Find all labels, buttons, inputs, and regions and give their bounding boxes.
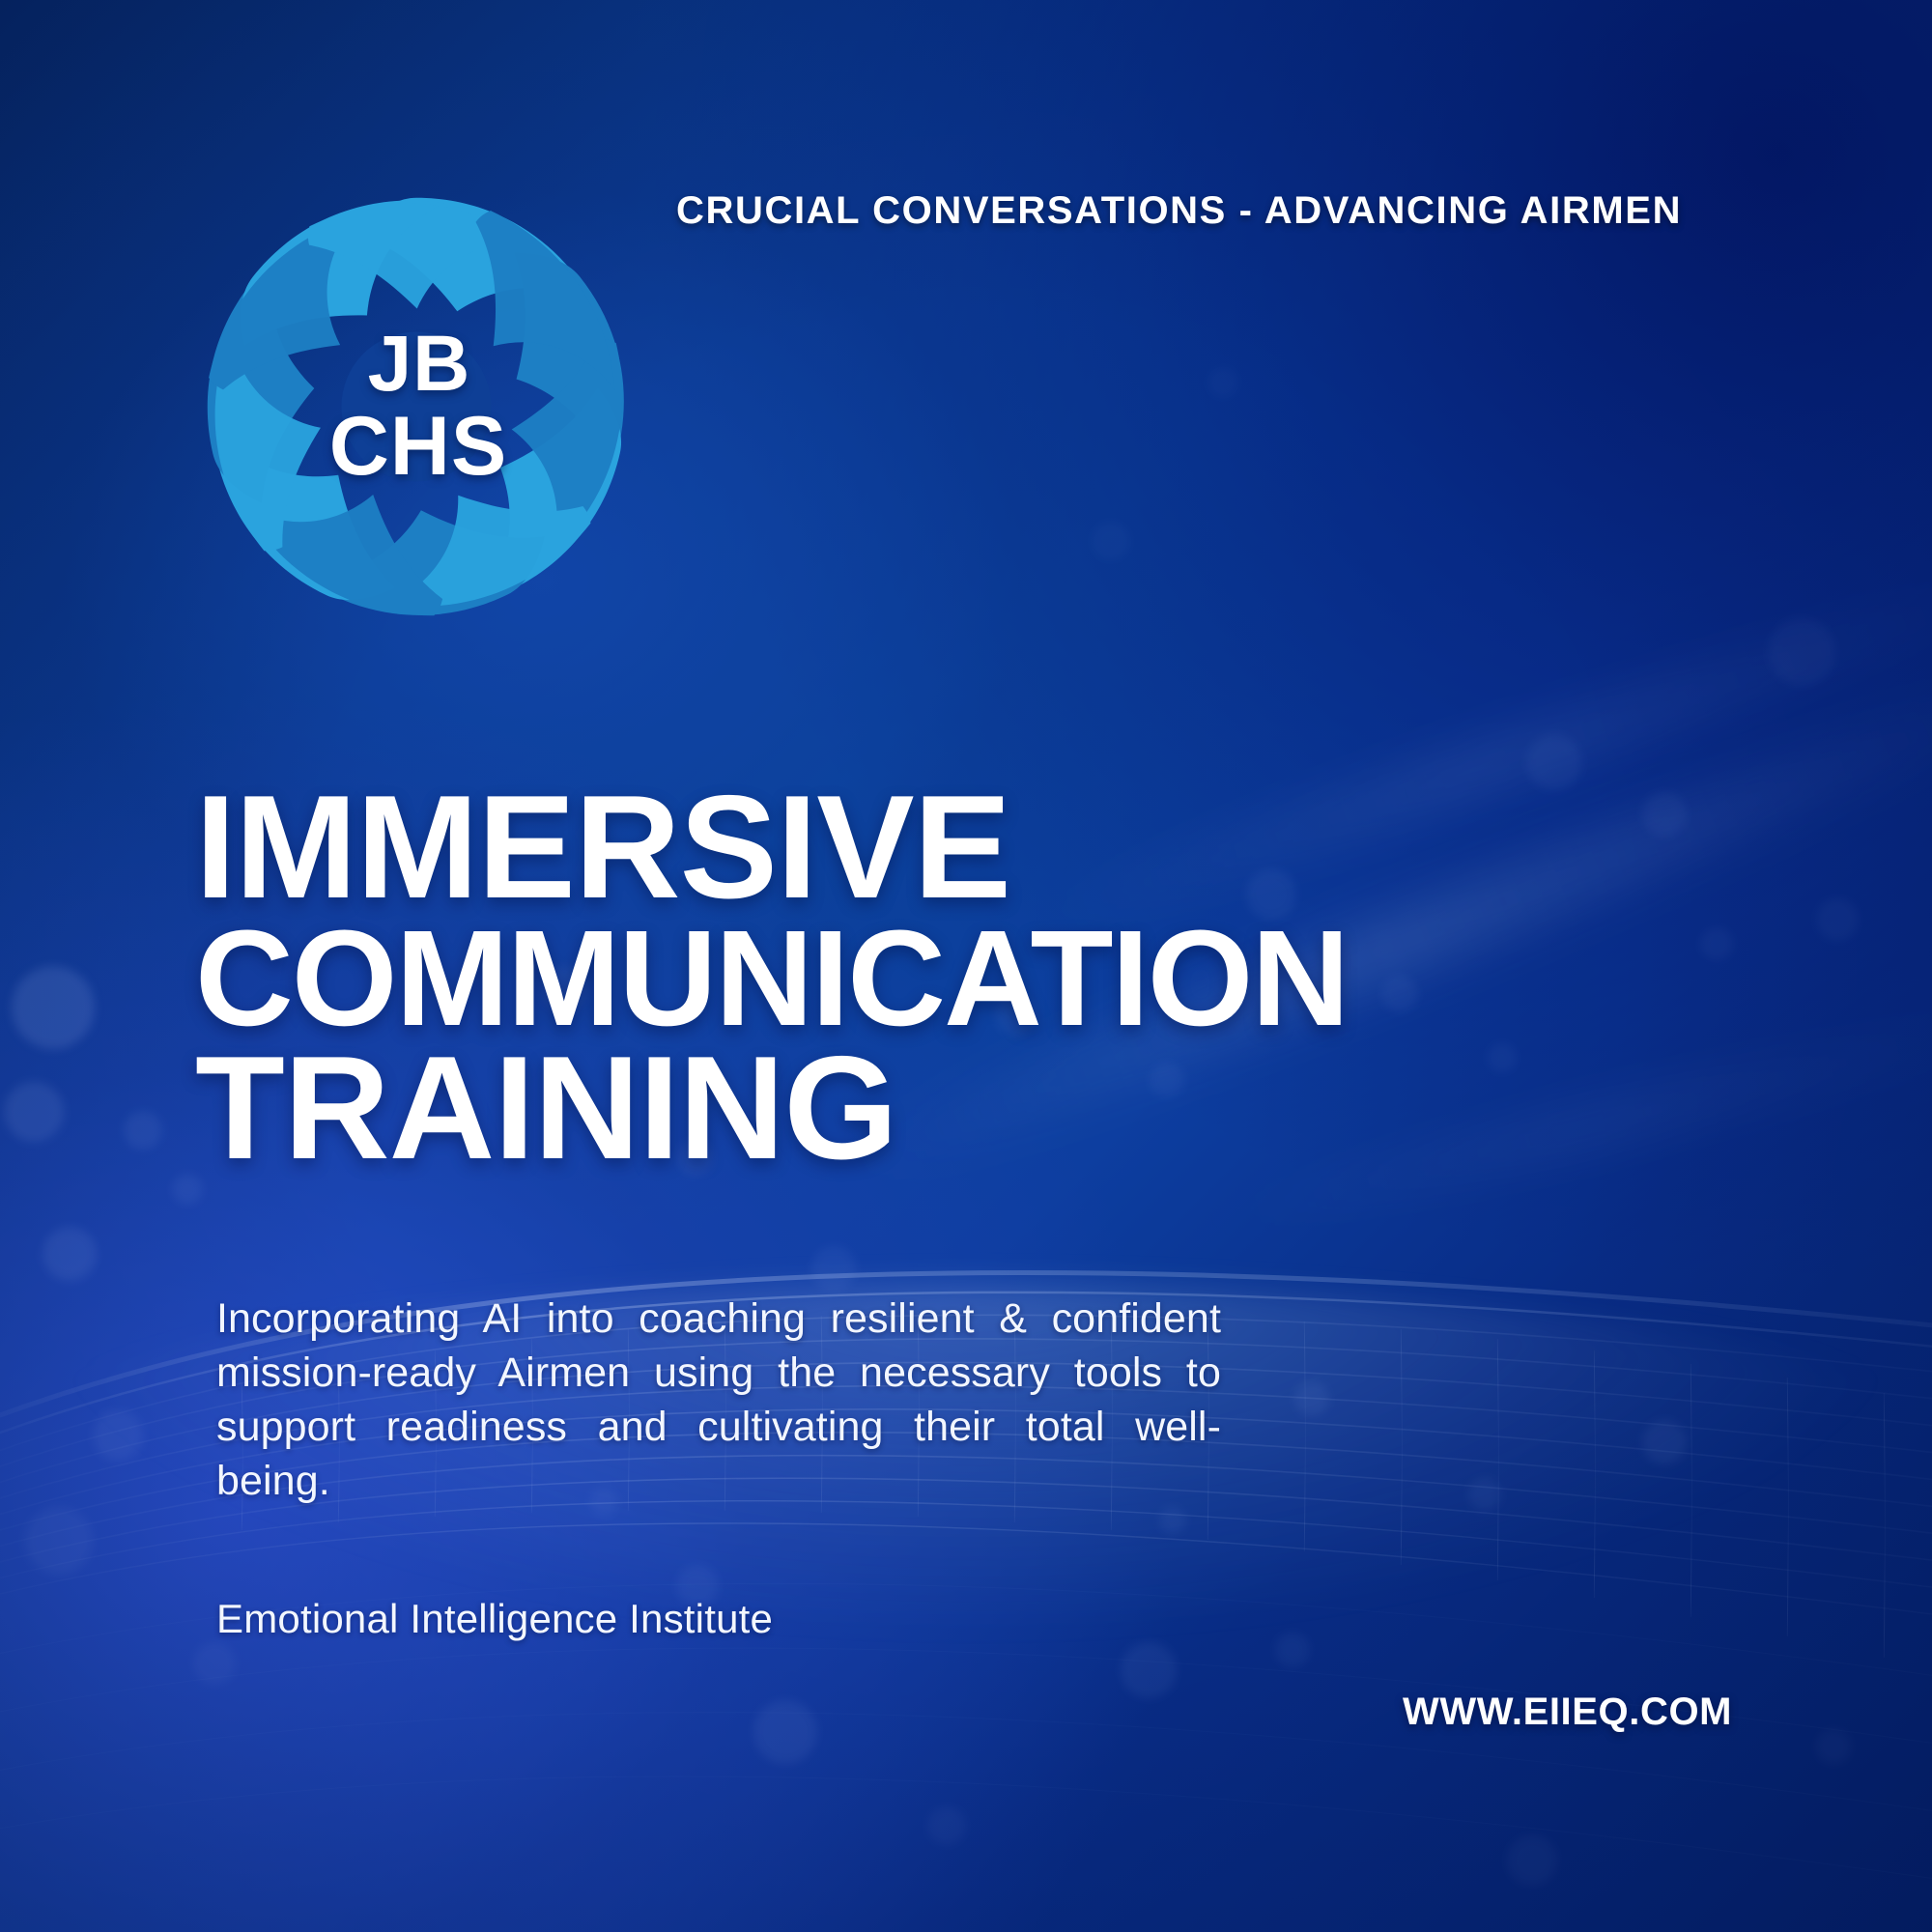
poster-kicker: CRUCIAL CONVERSATIONS - ADVANCING AIRMEN (676, 189, 1682, 233)
headline-line-1: IMMERSIVE (195, 781, 1567, 916)
pinwheel-swirl-icon (189, 180, 643, 634)
jbchs-logo: JB CHS (189, 180, 643, 634)
headline-line-3: TRAINING (195, 1041, 1567, 1177)
website-url[interactable]: WWW.EIIEQ.COM (1403, 1690, 1732, 1734)
page-title: IMMERSIVE COMMUNICATION TRAINING (195, 781, 1567, 1176)
organization-name: Emotional Intelligence Institute (216, 1596, 773, 1642)
description-paragraph: Incorporating AI into coaching resilient… (216, 1293, 1221, 1509)
headline-line-2: COMMUNICATION (195, 916, 1567, 1041)
poster-content: CRUCIAL CONVERSATIONS - ADVANCING AIRMEN (0, 0, 1932, 1932)
promotional-poster: CRUCIAL CONVERSATIONS - ADVANCING AIRMEN (0, 0, 1932, 1932)
